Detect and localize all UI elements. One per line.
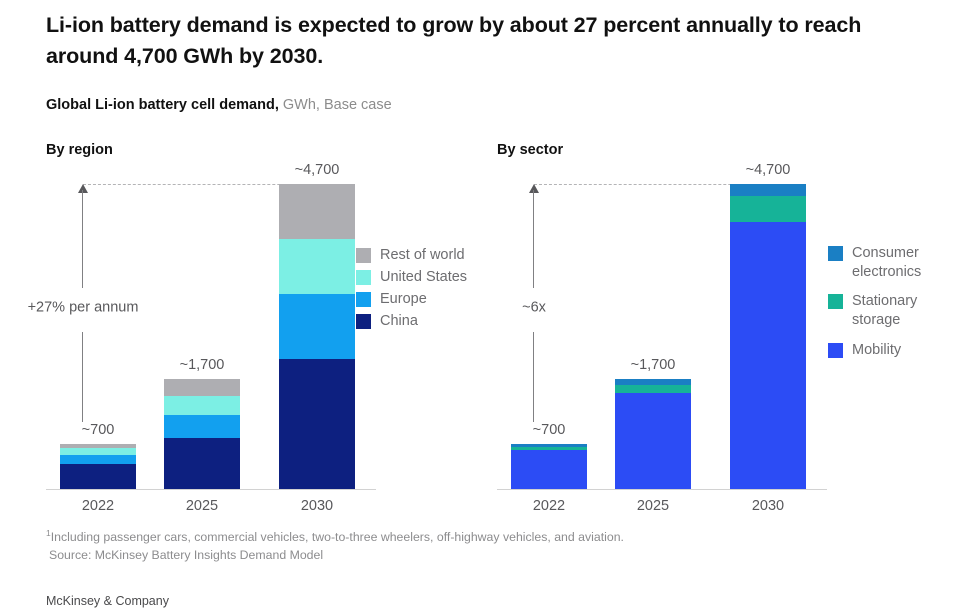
legend-item-europe[interactable]: Europe	[356, 290, 467, 309]
bar-segment-europe[interactable]	[60, 455, 136, 464]
bar-segment-europe[interactable]	[164, 415, 240, 438]
chart-subtitle: Global Li-ion battery cell demand, GWh, …	[46, 97, 392, 114]
bar-group-2030[interactable]: ~4,7002030	[279, 184, 355, 489]
growth-annotation-left: +27% per annum	[82, 184, 84, 422]
legend-by-sector: Consumer electronicsStationary storageMo…	[828, 244, 921, 370]
x-axis-label-2030: 2030	[752, 498, 784, 514]
x-axis-label-2030: 2030	[301, 498, 333, 514]
legend-swatch-icon	[356, 270, 371, 285]
bar-segment-united-states[interactable]	[164, 396, 240, 415]
panel-title-by-region: By region	[46, 142, 113, 158]
arrow-shaft-lower-right	[533, 332, 534, 422]
legend-label: Europe	[380, 290, 427, 309]
bar-segment-mobility[interactable]	[615, 393, 691, 489]
legend-swatch-icon	[356, 248, 371, 263]
bar-group-2030[interactable]: ~4,7002030	[730, 184, 806, 489]
legend-item-rest-of-world[interactable]: Rest of world	[356, 246, 467, 265]
bar-segment-united-states[interactable]	[279, 239, 355, 294]
legend-item-china[interactable]: China	[356, 312, 467, 331]
bar-group-2022[interactable]: ~7002022	[511, 444, 587, 489]
bar-stack	[60, 444, 136, 489]
legend-label: China	[380, 312, 418, 331]
legend-label: Stationary storage	[852, 292, 917, 330]
brand-mckinsey: McKinsey & Company	[46, 594, 169, 608]
legend-label: Consumer electronics	[852, 244, 921, 282]
footnote-text: Including passenger cars, commercial veh…	[51, 530, 624, 544]
bar-stack	[615, 379, 691, 489]
legend-label: Rest of world	[380, 246, 465, 265]
legend-swatch-icon	[828, 294, 843, 309]
x-axis-line-left	[46, 489, 376, 490]
footnote-line: 1Including passenger cars, commercial ve…	[46, 529, 624, 547]
bar-stack	[511, 444, 587, 489]
bar-segment-consumer-electronics[interactable]	[730, 184, 806, 196]
bar-segment-china[interactable]	[164, 438, 240, 489]
x-axis-label-2025: 2025	[637, 498, 669, 514]
bar-stack	[279, 184, 355, 489]
legend-label: Mobility	[852, 341, 901, 360]
legend-swatch-icon	[356, 314, 371, 329]
legend-label: United States	[380, 268, 467, 287]
bar-total-label: ~4,700	[746, 162, 791, 178]
x-axis-line-right	[497, 489, 827, 490]
chart-subtitle-rest: GWh, Base case	[279, 97, 392, 113]
legend-item-consumer-electronics[interactable]: Consumer electronics	[828, 244, 921, 282]
source-line: Source: McKinsey Battery Insights Demand…	[46, 547, 624, 565]
arrow-shaft-lower-left	[82, 332, 83, 422]
bar-group-2025[interactable]: ~1,7002025	[164, 379, 240, 489]
bar-segment-stationary-storage[interactable]	[730, 196, 806, 222]
bar-total-label: ~1,700	[631, 357, 676, 373]
bar-group-2025[interactable]: ~1,7002025	[615, 379, 691, 489]
legend-swatch-icon	[356, 292, 371, 307]
bar-stack	[164, 379, 240, 489]
bar-total-label: ~1,700	[180, 357, 225, 373]
bar-stack	[730, 184, 806, 489]
legend-swatch-icon	[828, 246, 843, 261]
arrow-shaft-upper-right	[533, 190, 534, 288]
chart-subtitle-strong: Global Li-ion battery cell demand,	[46, 97, 279, 113]
bar-segment-rest-of-world[interactable]	[279, 184, 355, 239]
bar-segment-mobility[interactable]	[511, 450, 587, 489]
panel-title-by-sector: By sector	[497, 142, 563, 158]
legend-item-stationary-storage[interactable]: Stationary storage	[828, 292, 921, 330]
bar-segment-united-states[interactable]	[60, 448, 136, 455]
bar-segment-europe[interactable]	[279, 294, 355, 360]
bar-segment-china[interactable]	[279, 359, 355, 489]
legend-by-region: Rest of worldUnited StatesEuropeChina	[356, 246, 467, 335]
x-axis-label-2025: 2025	[186, 498, 218, 514]
legend-item-mobility[interactable]: Mobility	[828, 341, 921, 360]
x-axis-label-2022: 2022	[82, 498, 114, 514]
footnotes: 1Including passenger cars, commercial ve…	[46, 529, 624, 565]
bar-total-label: ~700	[533, 422, 566, 438]
bar-segment-rest-of-world[interactable]	[164, 379, 240, 397]
legend-swatch-icon	[828, 343, 843, 358]
bar-segment-stationary-storage[interactable]	[615, 385, 691, 393]
arrow-shaft-upper-left	[82, 190, 83, 288]
bar-total-label: ~4,700	[295, 162, 340, 178]
bar-group-2022[interactable]: ~7002022	[60, 444, 136, 489]
page-headline: Li-ion battery demand is expected to gro…	[46, 10, 906, 71]
growth-annotation-right: ~6x	[533, 184, 535, 422]
bar-total-label: ~700	[82, 422, 115, 438]
bar-segment-mobility[interactable]	[730, 222, 806, 489]
legend-item-united-states[interactable]: United States	[356, 268, 467, 287]
growth-multiple-label-right: ~6x	[517, 296, 551, 319]
growth-rate-label-left: +27% per annum	[23, 296, 144, 319]
x-axis-label-2022: 2022	[533, 498, 565, 514]
bar-segment-china[interactable]	[60, 464, 136, 489]
